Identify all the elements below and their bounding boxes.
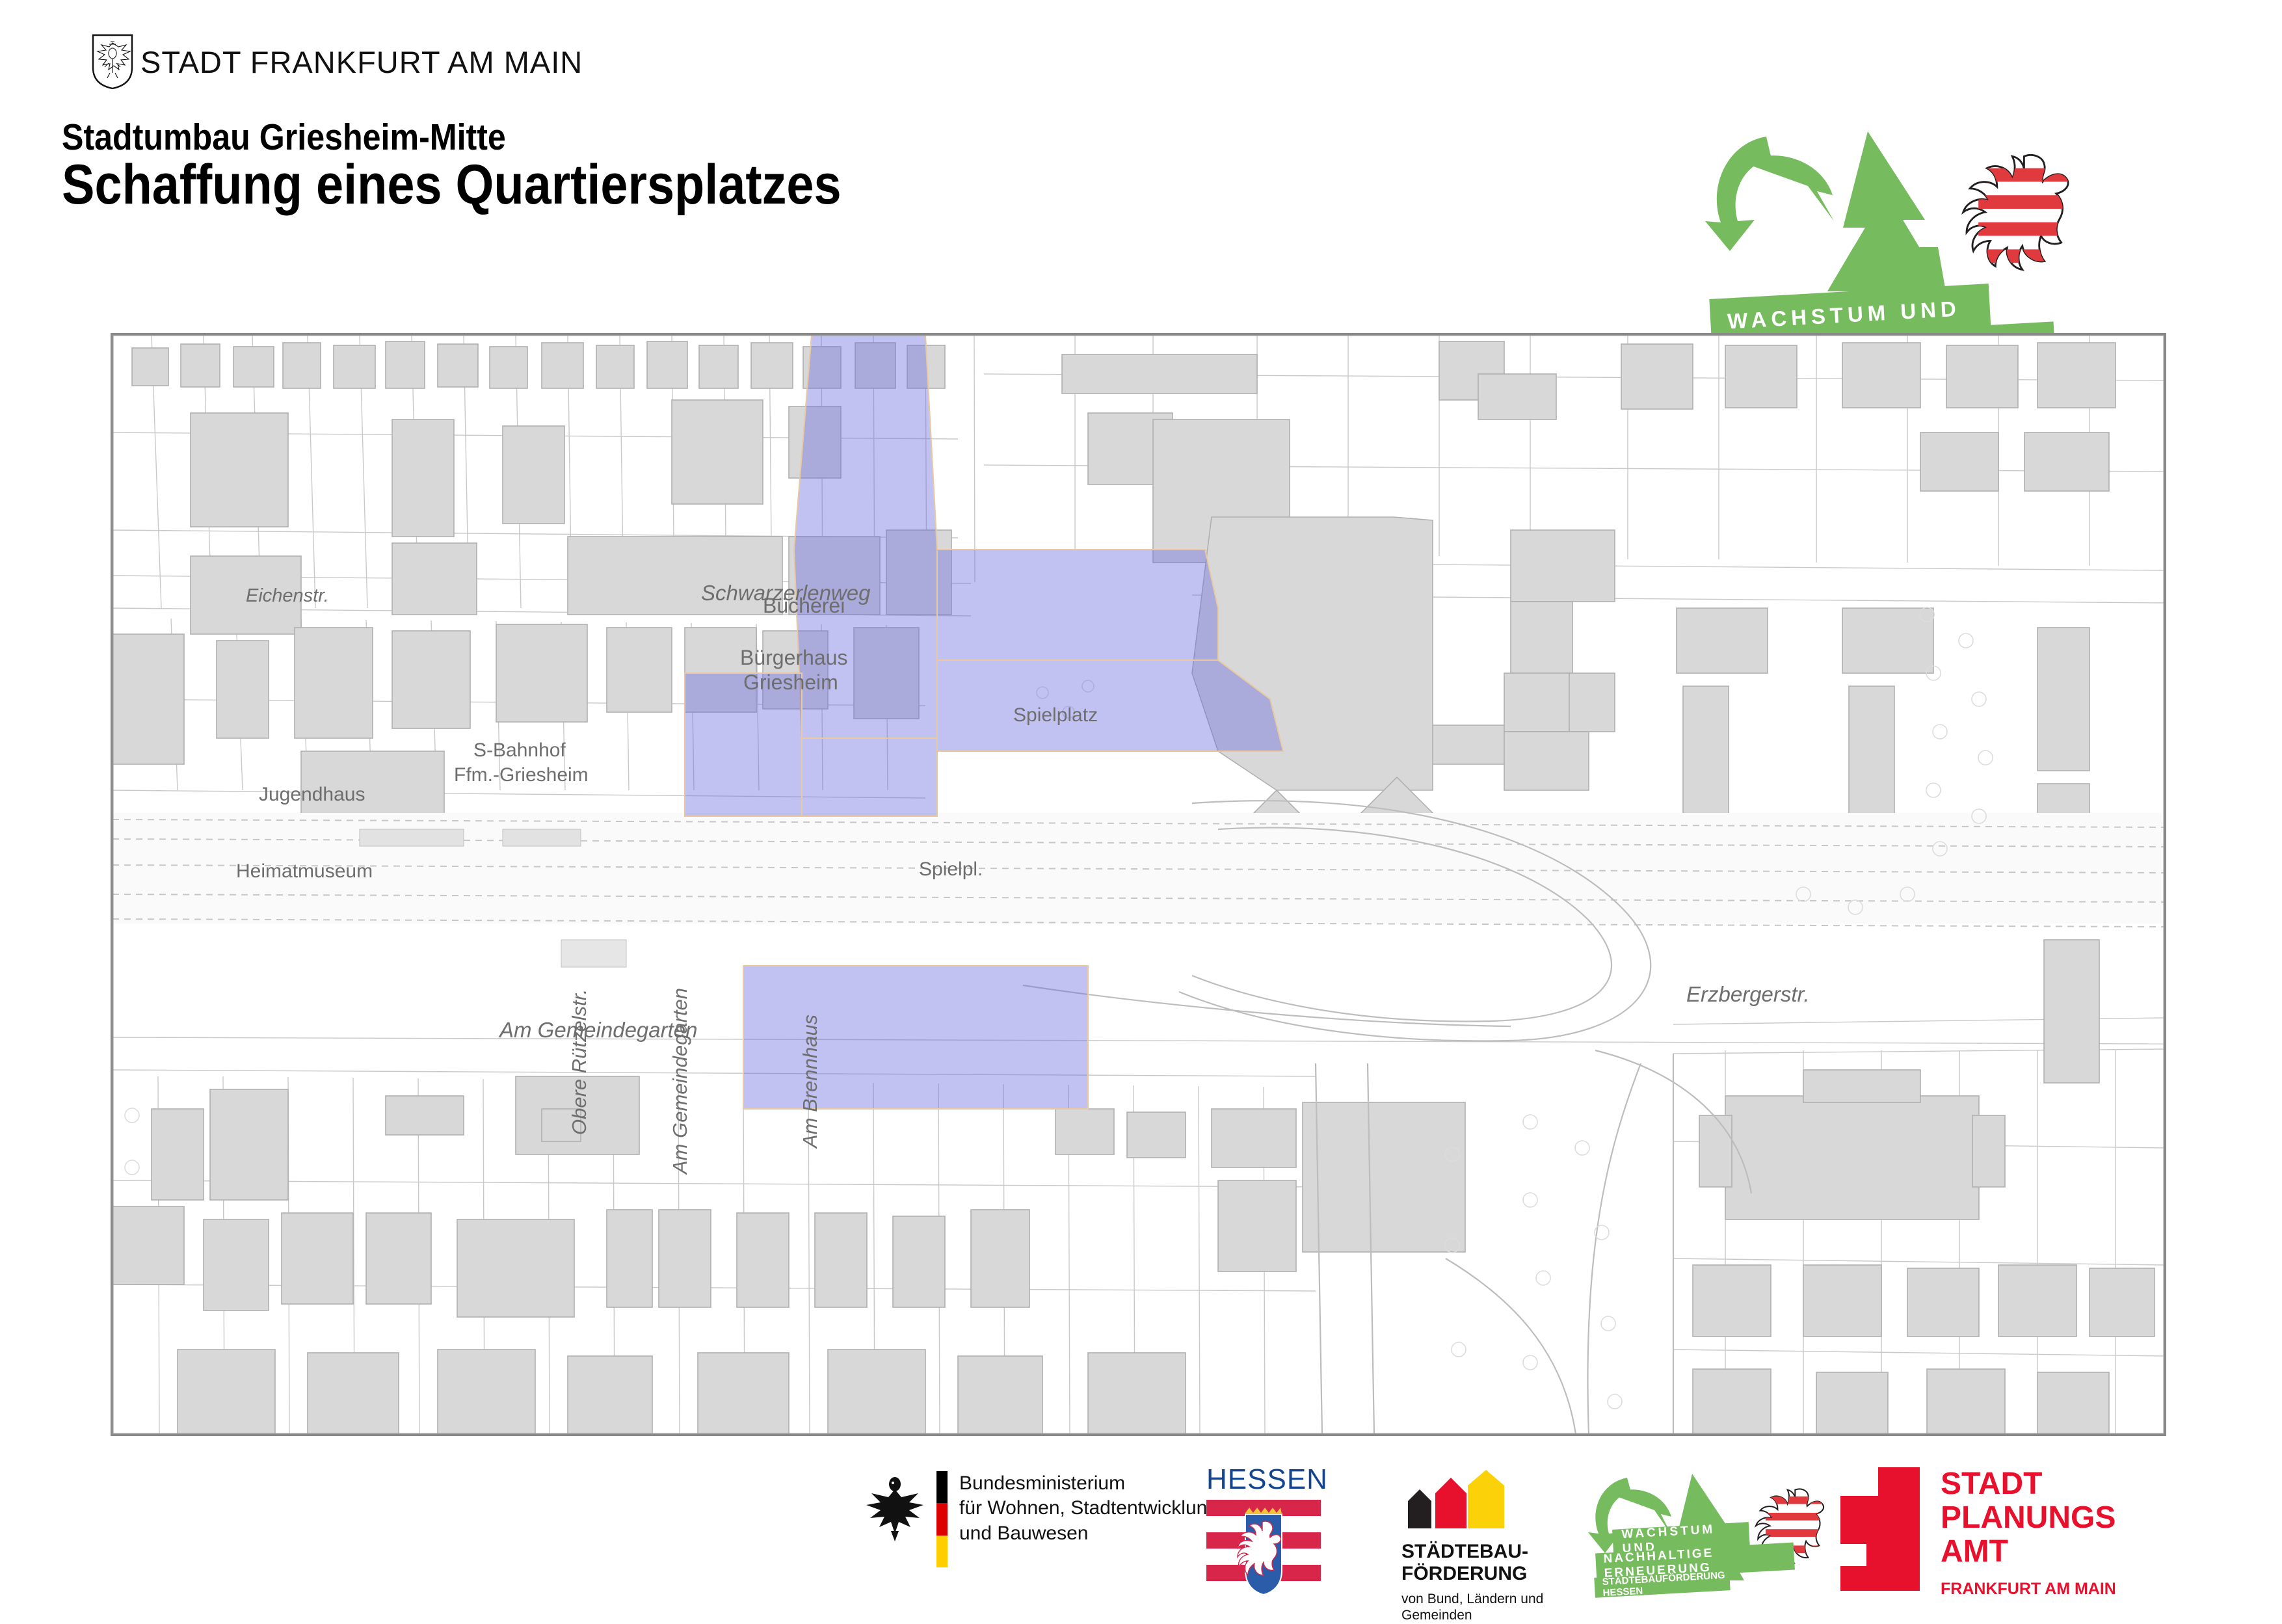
city-logo: STADT FRANKFURT AM MAIN <box>91 34 583 90</box>
staedtebau-line-3: von Bund, Ländern und <box>1401 1591 1543 1607</box>
highlight-west-block <box>685 673 802 816</box>
staedtebau-line-1: STÄDTEBAU- <box>1401 1541 1543 1563</box>
highlight-north-strip <box>794 335 937 738</box>
federal-eagle-icon <box>865 1471 925 1543</box>
three-houses-icon <box>1403 1470 1507 1528</box>
bmwsb-logo: Bundesministerium für Wohnen, Stadtentwi… <box>865 1471 1218 1567</box>
wachstum-logo-small: WACHSTUM UND NACHHALTIGE ERNEUERUNG STÄD… <box>1587 1470 1873 1600</box>
stadtplanungsamt-logo: STADT PLANUNGS AMT FRANKFURT AM MAIN <box>1840 1467 2116 1599</box>
spa-line-2: PLANUNGS <box>1941 1501 2116 1535</box>
page-footer: Bundesministerium für Wohnen, Stadtentwi… <box>0 1457 2282 1613</box>
highlight-east-arm <box>937 550 1218 660</box>
highlight-south-block <box>743 966 1088 1109</box>
stadtplanungsamt-mark-icon <box>1840 1467 1920 1591</box>
city-logo-wordmark: STADT FRANKFURT AM MAIN <box>140 44 583 80</box>
map-canvas[interactable] <box>113 335 2164 1434</box>
hessen-coat-of-arms-icon <box>1206 1500 1321 1597</box>
bmwsb-line-3: und Bauwesen <box>959 1521 1218 1546</box>
spa-line-1: STADT <box>1941 1467 2116 1501</box>
spa-subline: FRANKFURT AM MAIN <box>1941 1580 2116 1599</box>
staedtebau-line-4: Gemeinden <box>1401 1607 1543 1623</box>
german-flag-bar-icon <box>936 1471 948 1567</box>
spa-line-3: AMT <box>1941 1535 2116 1569</box>
hessen-logo: HESSEN <box>1206 1463 1323 1601</box>
staedtebau-line-2: FÖRDERUNG <box>1401 1563 1543 1585</box>
highlight-east-lower <box>937 660 1283 751</box>
page-title: Schaffung eines Quartiersplatzes <box>62 153 842 217</box>
bmwsb-text: Bundesministerium für Wohnen, Stadtentwi… <box>959 1471 1218 1546</box>
hessen-wordmark: HESSEN <box>1206 1463 1323 1496</box>
cadastral-map[interactable]: Eichenstr. Schwarzerlenweg Erzbergerstr.… <box>111 333 2166 1436</box>
bmwsb-line-2: für Wohnen, Stadtentwicklung <box>959 1496 1218 1521</box>
stadtplanungsamt-wordmark: STADT PLANUNGS AMT FRANKFURT AM MAIN <box>1941 1467 2116 1599</box>
frankfurt-eagle-crest-icon <box>91 34 134 90</box>
staedtebaufoerderung-logo: STÄDTEBAU- FÖRDERUNG von Bund, Ländern u… <box>1401 1470 1543 1624</box>
page-header: STADT FRANKFURT AM MAIN Stadtumbau Gries… <box>0 0 2282 306</box>
highlight-mid-block <box>802 738 937 816</box>
bmwsb-line-1: Bundesministerium <box>959 1471 1218 1496</box>
